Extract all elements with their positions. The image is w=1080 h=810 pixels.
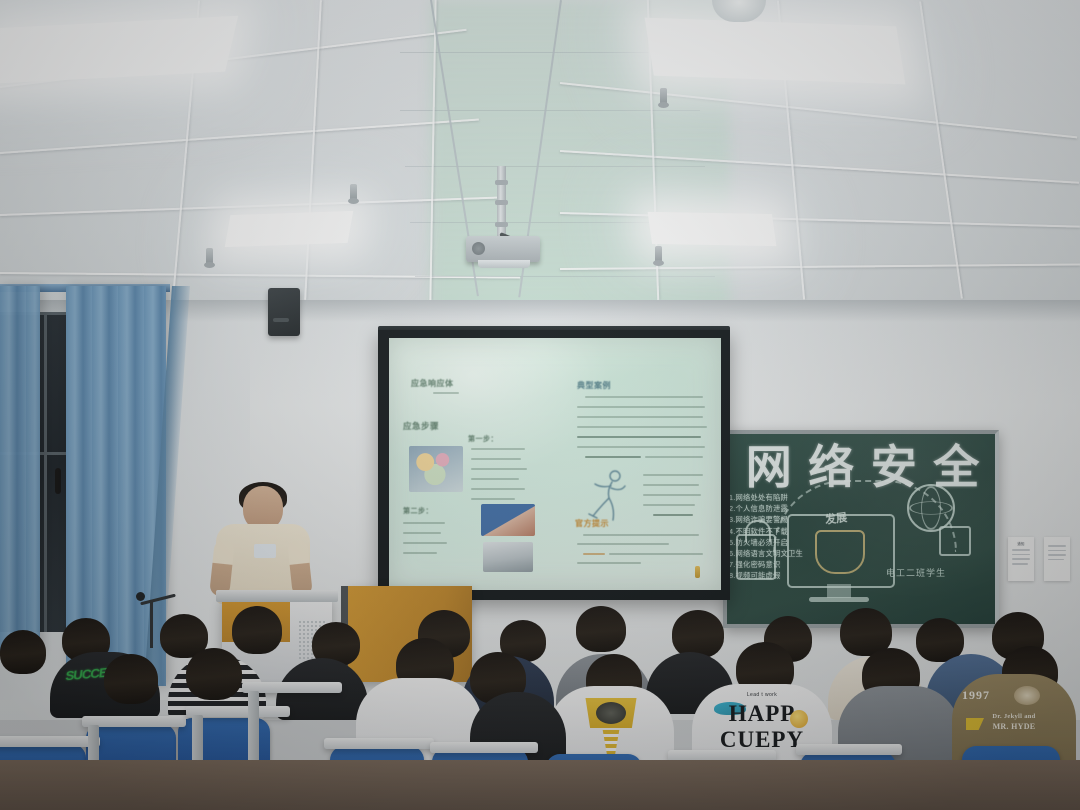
blackboard-title-char-3: 安 bbox=[871, 431, 918, 497]
ceiling bbox=[0, 0, 1080, 330]
blackboard-list-item: 4.不明软件不下载 bbox=[729, 526, 825, 537]
wall-speaker bbox=[268, 288, 300, 336]
blackboard-list-item: 2.个人信息防泄露 bbox=[729, 503, 825, 514]
student-head bbox=[186, 648, 242, 700]
shirt-brand-label: Lead t work bbox=[692, 692, 832, 698]
tablet-desk[interactable] bbox=[430, 742, 538, 753]
led-panel-3 bbox=[225, 211, 354, 247]
chalk-drawing-label: 发展 bbox=[824, 509, 848, 528]
blackboard-list: 1.网络处处有陷阱 2.个人信息防泄露 3.网络诈骗要警惕 4.不明软件不下载 … bbox=[729, 492, 825, 582]
sprinkler-2 bbox=[350, 184, 357, 200]
sprinkler-3 bbox=[655, 246, 662, 262]
sprinkler-4 bbox=[206, 248, 213, 264]
tablet-desk[interactable] bbox=[796, 744, 902, 755]
blackboard-list-item: 6.网络语言文明文卫生 bbox=[729, 548, 825, 559]
wall-notice-1[interactable]: 通知 bbox=[1008, 537, 1034, 581]
tablet-desk[interactable] bbox=[0, 736, 100, 747]
wall-notice-line bbox=[1012, 558, 1030, 560]
projector-mount-pole bbox=[497, 166, 506, 240]
ceiling-grid-line bbox=[304, 0, 322, 300]
ceiling-projector bbox=[466, 236, 540, 262]
blackboard-title: 网 络 安 全 bbox=[738, 436, 988, 492]
wall-notice-line bbox=[1048, 550, 1066, 552]
wall-notice-line bbox=[1012, 554, 1030, 556]
ceiling-tile-seam bbox=[405, 166, 705, 167]
presenter-shirt-graphic bbox=[254, 544, 276, 558]
window-frame bbox=[44, 312, 47, 632]
wall-notice-heading: 通知 bbox=[1008, 537, 1034, 546]
blackboard-title-char-2: 络 bbox=[808, 431, 855, 497]
classroom-photo: 通知 发展 网 络 安 全 1.网络处处有陷阱 2.个人信息防泄露 3.网络诈骗… bbox=[0, 0, 1080, 810]
wall-notice-2[interactable] bbox=[1044, 537, 1070, 581]
blackboard-title-char-4: 全 bbox=[933, 431, 980, 497]
blackboard-list-item: 3.网络诈骗要警惕 bbox=[729, 514, 825, 525]
student-head bbox=[672, 610, 724, 658]
blackboard-signature: 电工二班学生 bbox=[886, 566, 946, 579]
wall-notice-line bbox=[1048, 559, 1064, 561]
ceiling-tile-seam bbox=[415, 276, 715, 277]
blackboard-list-item: 1.网络处处有陷阱 bbox=[729, 492, 825, 503]
shirt-graphic-emblem bbox=[596, 702, 626, 724]
sprinkler-1 bbox=[660, 88, 667, 104]
shirt-emoji-icon bbox=[790, 710, 808, 728]
student-head bbox=[576, 606, 626, 652]
shirt-text-line-1: HAPP bbox=[692, 702, 832, 725]
student-head bbox=[232, 606, 282, 654]
blackboard-list-item: 7.强化密码意识 bbox=[729, 559, 825, 570]
tablet-desk[interactable] bbox=[324, 738, 434, 749]
wall-notice-line bbox=[1012, 563, 1028, 565]
led-panel-2 bbox=[645, 18, 906, 85]
led-panel-1 bbox=[0, 16, 238, 84]
floor bbox=[0, 760, 1080, 810]
blackboard-list-item: 5.防火墙必须开启 bbox=[729, 537, 825, 548]
ceiling-grid-line bbox=[0, 119, 479, 154]
slide-vignette bbox=[389, 338, 721, 590]
wall-notice-line bbox=[1012, 549, 1030, 551]
wall-notice-line bbox=[1048, 554, 1066, 556]
ceiling-tile-seam bbox=[400, 110, 700, 111]
student-head bbox=[0, 630, 46, 674]
projector-lens bbox=[478, 260, 530, 268]
wall-notice-line bbox=[1048, 545, 1066, 547]
projected-slide: 应急响应体 应急步骤 第一步： 第二步： 典型案例 bbox=[389, 338, 721, 590]
jacket-patch-icon bbox=[1014, 686, 1040, 705]
window-handle[interactable] bbox=[55, 468, 61, 494]
blackboard-title-char-1: 网 bbox=[746, 431, 793, 497]
led-panel-4 bbox=[648, 212, 777, 246]
server-drawing bbox=[939, 526, 971, 556]
blackboard-list-item: 8.视频可能虚假 bbox=[729, 570, 825, 581]
presenter bbox=[214, 486, 310, 604]
ceiling-grid-line bbox=[0, 197, 500, 216]
student-head bbox=[104, 654, 158, 704]
ceiling-grid-line bbox=[919, 1, 963, 298]
jacket-year-text: 1997 bbox=[962, 688, 990, 703]
